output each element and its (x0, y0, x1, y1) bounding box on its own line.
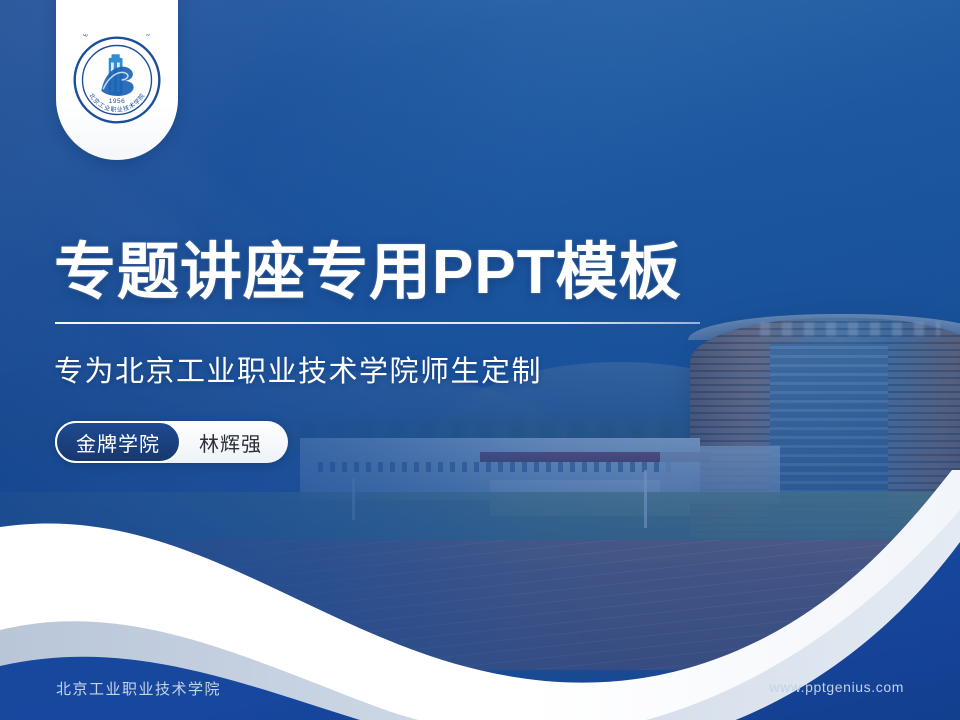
presentation-title-slide: Beijing Polytechnic College 北京工业职业技术学院 1… (0, 0, 960, 720)
college-logo-panel: Beijing Polytechnic College 北京工业职业技术学院 1… (56, 0, 178, 160)
footer-website-url: www.pptgenius.com (769, 679, 904, 695)
presenter-badge: 金牌学院 林辉强 (55, 421, 288, 463)
svg-text:1956: 1956 (109, 98, 126, 105)
college-logo-icon: Beijing Polytechnic College 北京工业职业技术学院 1… (71, 34, 163, 126)
footer-institution-name: 北京工业职业技术学院 (56, 678, 221, 699)
badge-tag-label: 金牌学院 (55, 421, 181, 463)
title-divider (55, 322, 700, 324)
slide-subtitle: 专为北京工业职业技术学院师生定制 (54, 348, 542, 390)
slide-title: 专题讲座专用PPT模板 (54, 240, 682, 305)
presenter-name: 林辉强 (181, 428, 284, 457)
